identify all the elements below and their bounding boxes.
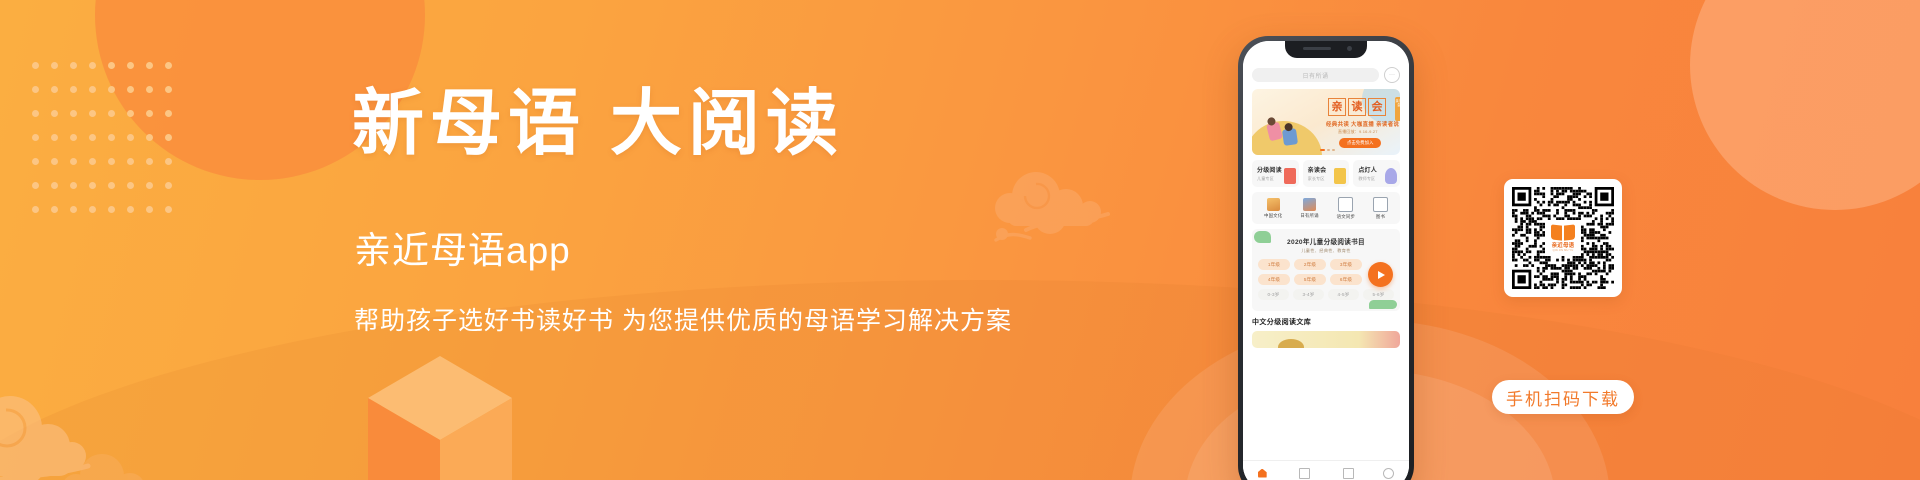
category-card-row: 分级阅读儿童专区亲读会家长专区点灯人教师专区 (1252, 160, 1400, 187)
grade-pill[interactable]: 2年级 (1294, 259, 1326, 270)
more-options-icon[interactable]: ··· (1384, 67, 1400, 83)
ti-clip-icon (1343, 468, 1354, 479)
book-icon (1551, 225, 1575, 240)
pattern-dot (127, 182, 134, 189)
pattern-dot (165, 110, 172, 117)
phone-screen-frame: 日有所诵 ··· 亲 读 会 亲读会 经典共读 大咖直播 亲读者说 直播回 (1243, 41, 1409, 480)
grade-pill[interactable]: 5年级 (1294, 274, 1326, 285)
promo-date: 直播回放：9.16-9.27 (1338, 129, 1378, 135)
brand-pinyin: QIN JIN MU YU (1553, 249, 1574, 252)
phone-notch (1285, 41, 1367, 58)
brand-logo: 亲近母语 QIN JIN MU YU (1546, 221, 1580, 255)
cloud-motif-icon (0, 384, 130, 480)
quick-link-label: 语文同步 (1337, 214, 1355, 220)
pattern-dot (32, 134, 39, 141)
carousel-dots[interactable] (1320, 149, 1335, 151)
pattern-dot (89, 206, 96, 213)
decorative-circle-top-right (1690, 0, 1920, 210)
pattern-dot (89, 110, 96, 117)
pattern-dot (32, 158, 39, 165)
pattern-dot (146, 86, 153, 93)
grade-pill[interactable]: 1年级 (1258, 259, 1290, 270)
search-row: 日有所诵 ··· (1252, 67, 1400, 83)
pattern-dot (89, 182, 96, 189)
category-card[interactable]: 亲读会家长专区 (1303, 160, 1350, 187)
pattern-dot (70, 62, 77, 69)
quick-link-label: 日有所诵 (1300, 213, 1318, 219)
section-title: 中文分级阅读文库 (1252, 317, 1400, 327)
pattern-dot (146, 206, 153, 213)
category-card[interactable]: 点灯人教师专区 (1353, 160, 1400, 187)
pattern-dot (89, 134, 96, 141)
pattern-dot (32, 62, 39, 69)
leaf-decoration (1369, 300, 1397, 309)
speaker-icon (1303, 47, 1331, 50)
quick-link[interactable]: 语文同步 (1337, 197, 1355, 220)
pattern-dot (127, 62, 134, 69)
category-mark-icon (1284, 168, 1296, 184)
promo-subtitle: 经典共读 大咖直播 亲读者说 (1326, 120, 1399, 128)
quick-link[interactable]: 图书 (1373, 197, 1388, 220)
search-input[interactable]: 日有所诵 (1252, 68, 1379, 82)
pattern-dot (165, 86, 172, 93)
grade-pill[interactable]: 3年级 (1330, 259, 1362, 270)
pattern-dot (127, 86, 134, 93)
pattern-dot (146, 110, 153, 117)
pattern-dot (127, 206, 134, 213)
q2-icon (1303, 198, 1316, 211)
age-pill[interactable]: 5-6岁 (1363, 289, 1394, 300)
banner-copy: 新母语 大阅读 亲近母语app 帮助孩子选好书读好书 为您提供优质的母语学习解决… (352, 88, 1032, 337)
pattern-dot (108, 182, 115, 189)
pattern-dot (51, 134, 58, 141)
age-pill[interactable]: 0-3岁 (1258, 289, 1289, 300)
quick-link[interactable]: 中国文化 (1264, 198, 1282, 219)
pattern-dot (51, 182, 58, 189)
promo-title-char: 亲 (1328, 98, 1346, 116)
leaf-decoration (1254, 231, 1271, 243)
pattern-dot (32, 86, 39, 93)
age-pill[interactable]: 4-5岁 (1328, 289, 1359, 300)
camera-icon (1347, 46, 1352, 51)
pattern-dot (70, 134, 77, 141)
quick-link[interactable]: 日有所诵 (1300, 198, 1318, 219)
qr-code-image: 亲近母语 QIN JIN MU YU (1512, 187, 1614, 289)
promo-title-char: 会 (1368, 98, 1386, 116)
q4-icon (1373, 197, 1388, 212)
pattern-dot (127, 134, 134, 141)
bottom-tab-bar: 首页小步读书学习我的 (1243, 460, 1409, 480)
promo-join-button[interactable]: 点击免费加入 (1339, 138, 1381, 148)
category-card[interactable]: 分级阅读儿童专区 (1252, 160, 1299, 187)
phone-mockup: 日有所诵 ··· 亲 读 会 亲读会 经典共读 大咖直播 亲读者说 直播回 (1238, 36, 1414, 480)
brand-name: 亲近母语 (1552, 241, 1575, 249)
pattern-dot (165, 158, 172, 165)
promo-seal: 亲读会 (1395, 97, 1400, 121)
pattern-dot (70, 110, 77, 117)
pattern-dot (146, 182, 153, 189)
promo-title: 亲 读 会 (1328, 98, 1386, 116)
pattern-dot (108, 134, 115, 141)
isometric-cube-decoration (360, 350, 520, 480)
carousel-dot[interactable] (1320, 149, 1325, 151)
pattern-dot (51, 110, 58, 117)
cloud-motif-icon (58, 438, 208, 480)
tab-1[interactable]: 小步读书 (1296, 468, 1314, 480)
app-screen: 日有所诵 ··· 亲 读 会 亲读会 经典共读 大咖直播 亲读者说 直播回 (1243, 41, 1409, 480)
quick-link-row: 中国文化日有所诵语文同步图书 (1252, 192, 1400, 224)
pattern-dot (32, 110, 39, 117)
grade-card-subtitle: 儿童性、经典性、教育性 (1258, 248, 1394, 254)
category-mark-icon (1334, 168, 1346, 184)
promo-card[interactable]: 亲 读 会 亲读会 经典共读 大咖直播 亲读者说 直播回放：9.16-9.27 … (1252, 89, 1400, 155)
tab-2[interactable]: 学习 (1343, 468, 1354, 480)
page-title: 新母语 大阅读 (352, 88, 1032, 160)
grade-card-title: 2020年儿童分级阅读书目 (1258, 236, 1394, 246)
pattern-dot (32, 182, 39, 189)
quick-link-label: 中国文化 (1264, 213, 1282, 219)
pattern-dot (165, 134, 172, 141)
pattern-dot (127, 110, 134, 117)
qr-code-card: 亲近母语 QIN JIN MU YU (1504, 179, 1622, 297)
pattern-dot (146, 62, 153, 69)
pattern-dot (108, 110, 115, 117)
promo-banner: 新母语 大阅读 亲近母语app 帮助孩子选好书读好书 为您提供优质的母语学习解决… (0, 0, 1920, 480)
pattern-dot (70, 206, 77, 213)
pattern-dot (108, 86, 115, 93)
carousel-dot[interactable] (1332, 149, 1335, 151)
download-button[interactable]: 手机扫码下载 (1492, 380, 1634, 414)
pattern-dot (70, 158, 77, 165)
q3-icon (1338, 197, 1353, 212)
dot-grid-pattern (32, 62, 172, 214)
pattern-dot (89, 62, 96, 69)
ti-doc-icon (1299, 468, 1310, 479)
pattern-dot (108, 158, 115, 165)
pattern-dot (146, 134, 153, 141)
book-illustration (1278, 339, 1304, 348)
pattern-dot (51, 86, 58, 93)
pattern-dot (70, 86, 77, 93)
quick-link-label: 图书 (1373, 214, 1388, 220)
pattern-dot (70, 182, 77, 189)
age-pill[interactable]: 3-4岁 (1293, 289, 1324, 300)
pattern-dot (127, 158, 134, 165)
play-icon[interactable] (1368, 262, 1393, 287)
grade-reading-card[interactable]: 2020年儿童分级阅读书目 儿童性、经典性、教育性 1年级2年级3年级4年级5年… (1252, 229, 1400, 311)
grade-pill[interactable]: 4年级 (1258, 274, 1290, 285)
promo-title-char: 读 (1348, 98, 1366, 116)
grade-pill[interactable]: 6年级 (1330, 274, 1362, 285)
ti-home-icon (1258, 469, 1267, 478)
pattern-dot (165, 62, 172, 69)
tab-3[interactable]: 我的 (1383, 468, 1394, 480)
tab-0[interactable]: 首页 (1258, 469, 1267, 480)
pattern-dot (51, 62, 58, 69)
grade-row: 0-3岁3-4岁4-5岁5-6岁 (1258, 289, 1394, 300)
pattern-dot (108, 62, 115, 69)
pattern-dot (108, 206, 115, 213)
app-name: 亲近母语app (354, 220, 1032, 274)
pattern-dot (165, 206, 172, 213)
ti-me-icon (1383, 468, 1394, 479)
pattern-dot (165, 182, 172, 189)
q1-icon (1267, 198, 1280, 211)
carousel-dot[interactable] (1327, 149, 1330, 151)
pattern-dot (51, 206, 58, 213)
tagline: 帮助孩子选好书读好书 为您提供优质的母语学习解决方案 (354, 301, 1032, 337)
pattern-dot (146, 158, 153, 165)
pattern-dot (89, 158, 96, 165)
category-mark-icon (1385, 168, 1397, 184)
library-strip[interactable] (1252, 331, 1400, 348)
pattern-dot (89, 86, 96, 93)
child-illustration (1282, 128, 1298, 146)
pattern-dot (51, 158, 58, 165)
pattern-dot (32, 206, 39, 213)
